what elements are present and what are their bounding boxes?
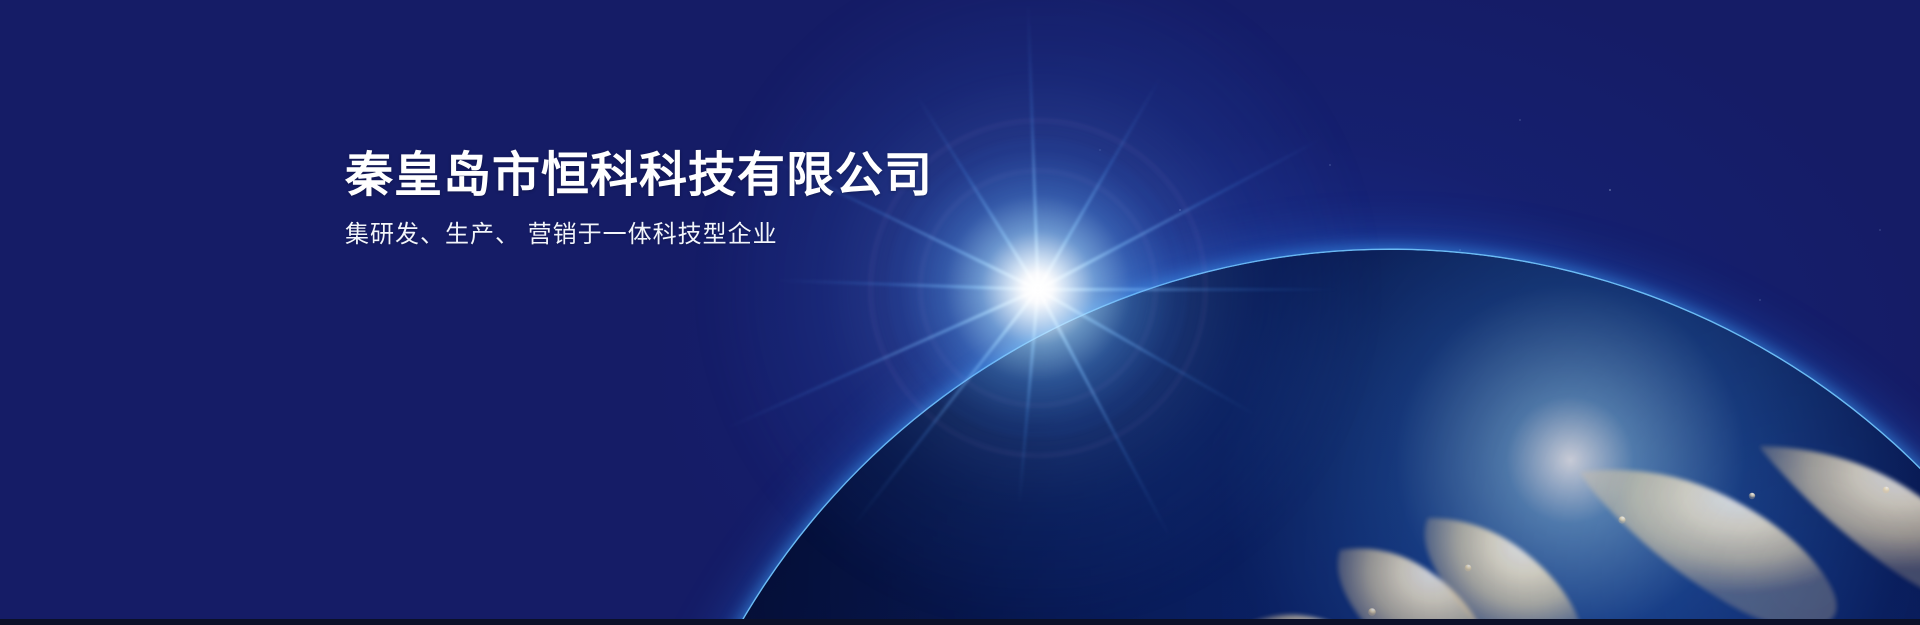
space-vignette — [0, 0, 1920, 625]
atmosphere-rim-arc — [636, 246, 1920, 625]
flare-ray — [1037, 77, 1162, 291]
company-title: 秦皇岛市恒科科技有限公司 — [345, 148, 933, 205]
flare-halo — [718, 0, 1358, 608]
flare-ray — [915, 94, 1039, 291]
flare-ray — [852, 289, 1039, 527]
flare-ray — [1018, 289, 1040, 503]
flare-ray — [727, 288, 1039, 429]
city-lights-layer — [640, 250, 1920, 625]
globe-terminator-shading — [640, 250, 1920, 625]
flare-ray — [1037, 288, 1255, 416]
hero-banner: 秦皇岛市恒科科技有限公司 集研发、生产、 营销于一体科技型企业 — [0, 0, 1920, 625]
earth-globe-graphic — [640, 250, 1920, 625]
flare-lens-ring-inner — [920, 170, 1156, 406]
atmosphere-outer-glow — [624, 234, 1920, 625]
flare-ray — [1037, 138, 1321, 291]
flare-ray — [1027, 5, 1040, 290]
globe-sphere — [640, 250, 1920, 625]
flare-ray — [1038, 288, 1338, 291]
flare-ray — [778, 279, 1038, 291]
starfield — [0, 0, 1920, 625]
bottom-edge-strip — [0, 619, 1920, 625]
banner-copy: 秦皇岛市恒科科技有限公司 集研发、生产、 营销于一体科技型企业 — [345, 148, 933, 250]
company-subtitle: 集研发、生产、 营销于一体科技型企业 — [345, 219, 933, 250]
flare-ray — [1037, 289, 1171, 538]
